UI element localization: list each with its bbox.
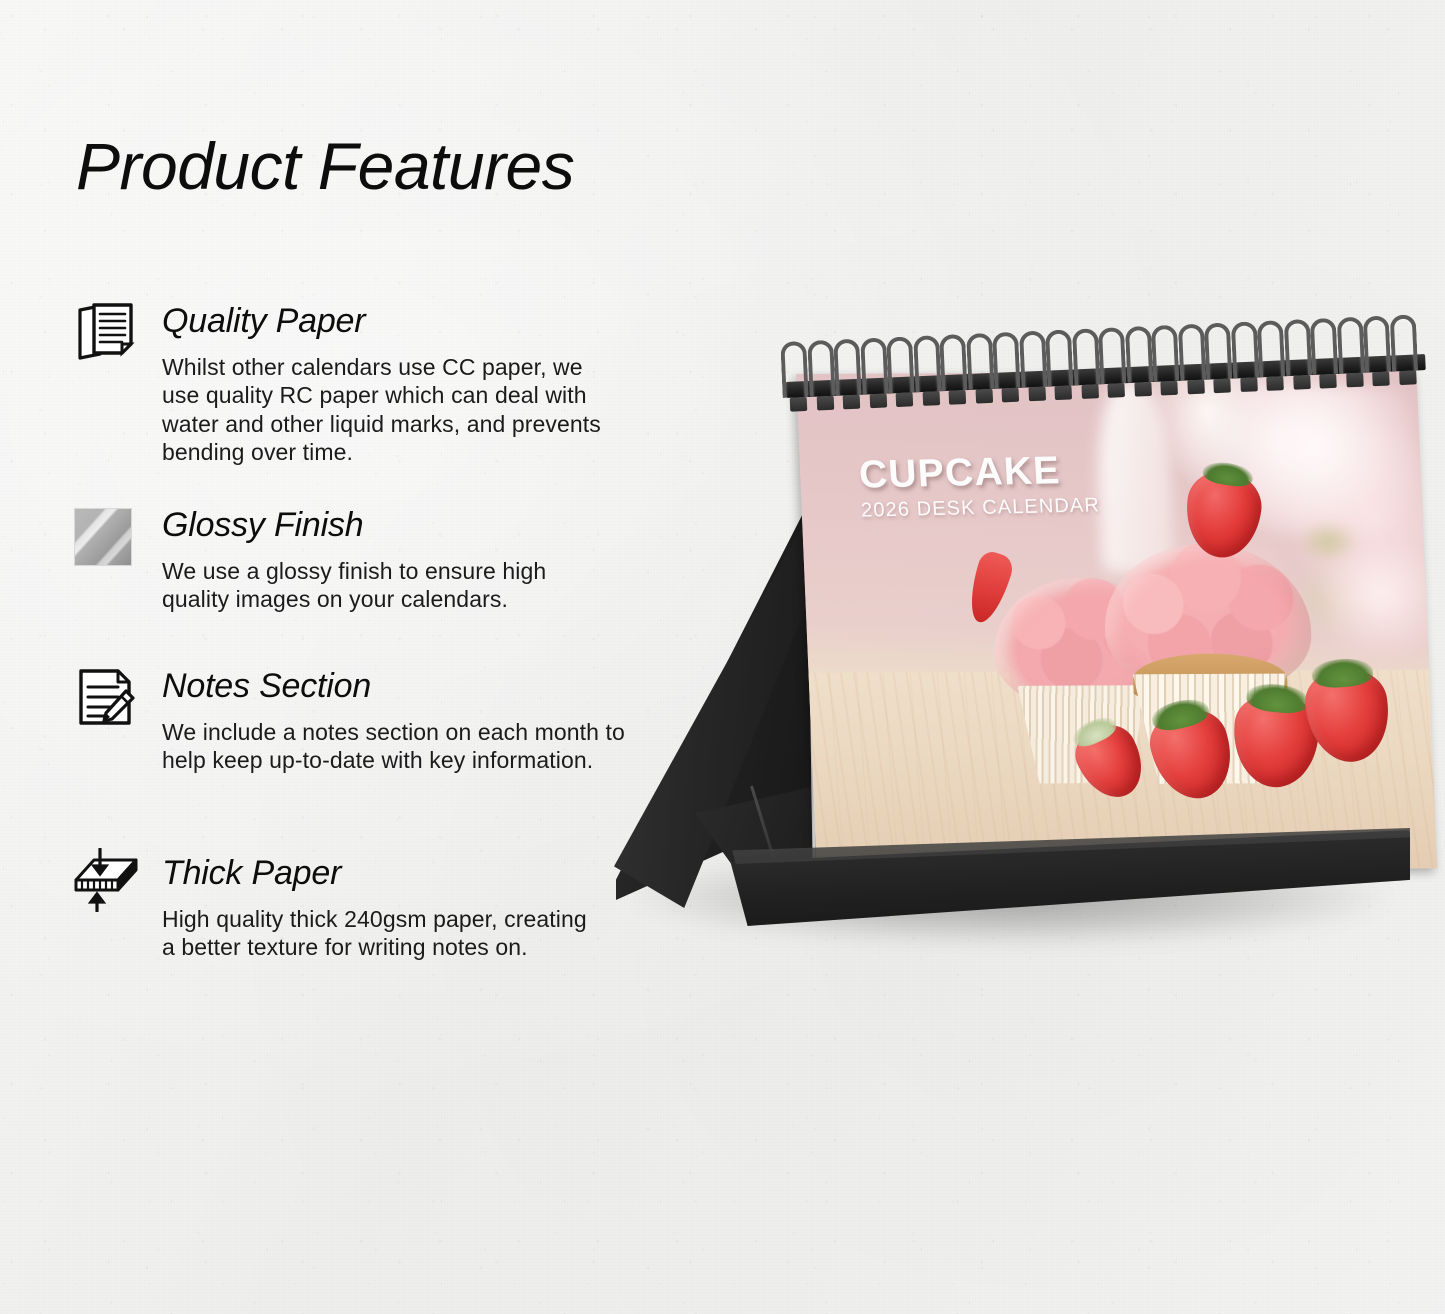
spiral-coil	[833, 339, 861, 396]
document-pencil-icon	[74, 665, 152, 743]
glossy-swatch-icon	[74, 508, 152, 586]
spiral-coil	[1257, 320, 1285, 377]
calendar-cover: CUPCAKE 2026 DESK CALENDAR	[796, 371, 1437, 872]
feature-body: Whilst other calendars use CC paper, we …	[162, 353, 617, 467]
infographic-page: Product Features Quality Paper Whilst ot…	[0, 0, 1445, 1314]
paper-thickness-icon	[74, 848, 152, 926]
cover-title: CUPCAKE	[858, 450, 1099, 494]
feature-heading: Quality Paper	[162, 304, 617, 340]
spiral-coil	[1045, 329, 1073, 386]
spiral-coil	[807, 340, 835, 397]
spiral-coil	[1310, 318, 1338, 375]
spiral-coil	[939, 334, 967, 391]
spiral-coil	[1363, 315, 1391, 372]
cover-text-block: CUPCAKE 2026 DESK CALENDAR	[858, 450, 1101, 520]
spiral-coil	[913, 335, 941, 392]
desk-calendar-mockup: CUPCAKE 2026 DESK CALENDAR	[600, 330, 1420, 980]
spiral-coil	[1071, 328, 1099, 385]
spiral-coil	[1230, 321, 1258, 378]
spiral-coil	[860, 337, 888, 394]
blurred-bokeh-left	[1243, 386, 1424, 537]
spiral-coil	[1124, 326, 1152, 383]
feature-body: We include a notes section on each month…	[162, 718, 632, 775]
spiral-coil	[992, 332, 1020, 389]
spiral-coil	[1283, 319, 1311, 376]
page-title: Product Features	[76, 133, 574, 199]
spiral-coil	[1389, 314, 1417, 371]
spiral-coil	[1177, 324, 1205, 381]
spiral-coil	[1204, 322, 1232, 379]
spiral-coil	[886, 336, 914, 393]
spiral-coil	[1336, 317, 1364, 374]
spiral-coil	[1019, 331, 1047, 388]
feature-body: High quality thick 240gsm paper, creatin…	[162, 905, 592, 962]
feature-heading: Thick Paper	[162, 856, 592, 892]
feature-body: We use a glossy finish to ensure high qu…	[162, 557, 602, 614]
spiral-coil	[1098, 327, 1126, 384]
spiral-coil	[1151, 325, 1179, 382]
feature-heading: Glossy Finish	[162, 508, 602, 544]
cover-subtitle: 2026 DESK CALENDAR	[860, 495, 1100, 520]
feature-heading: Notes Section	[162, 669, 632, 705]
spiral-coil	[966, 333, 994, 390]
spiral-coil	[780, 341, 808, 398]
stacked-documents-icon	[74, 300, 152, 378]
